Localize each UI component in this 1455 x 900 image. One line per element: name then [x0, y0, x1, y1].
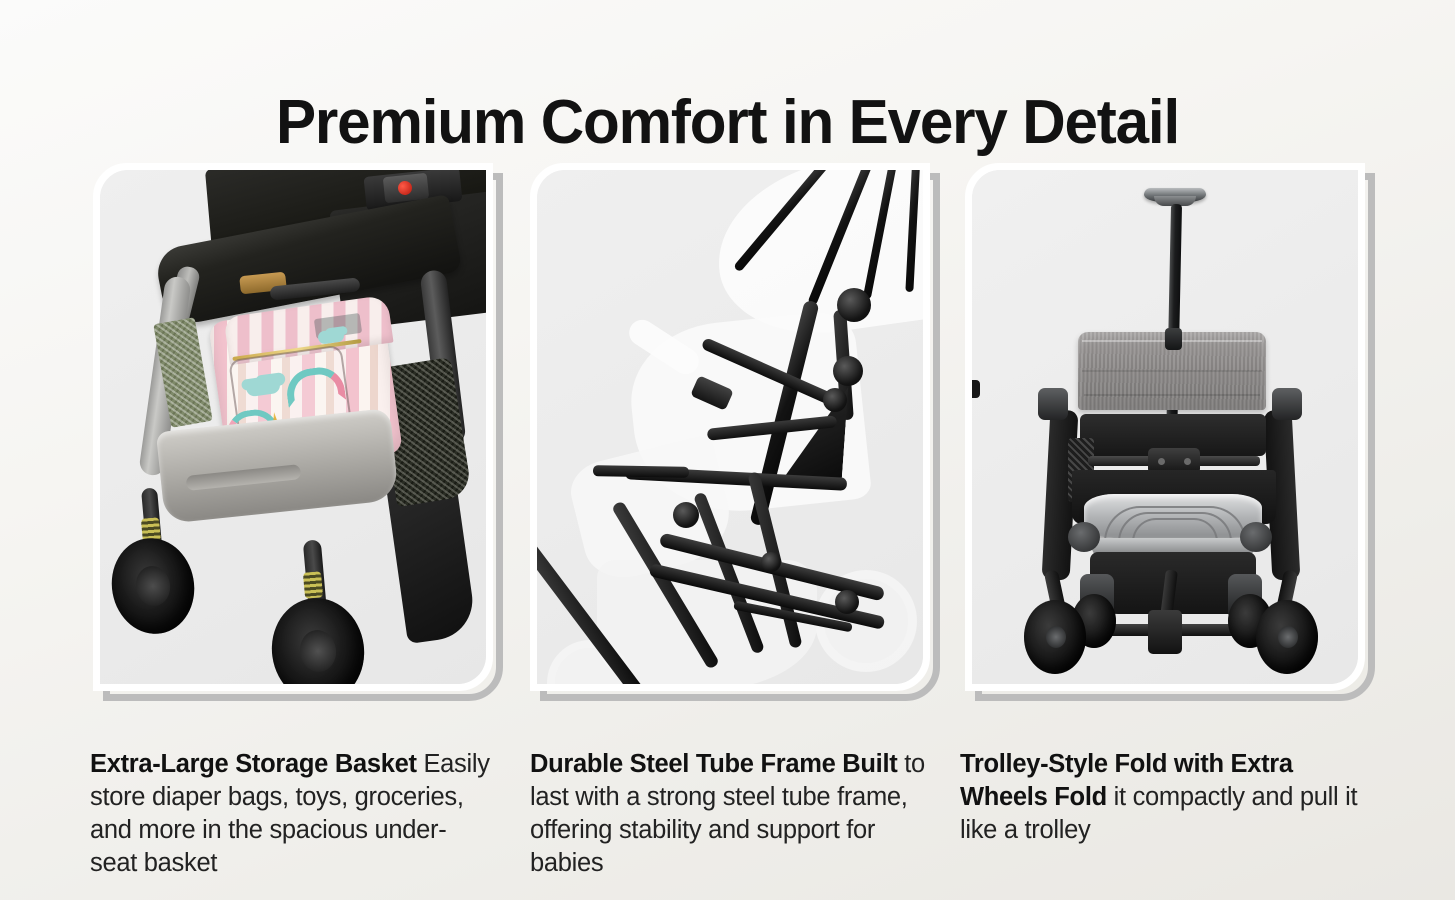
card-white-frame	[93, 163, 493, 691]
caption-heading: Durable Steel Tube Frame Built	[530, 750, 897, 778]
page-title: Premium Comfort in Every Detail	[22, 90, 1433, 155]
feature-card-row	[93, 163, 1365, 691]
feature-banner: Premium Comfort in Every Detail	[0, 0, 1455, 900]
caption-heading: Extra-Large Storage Basket	[90, 750, 417, 778]
feature-card-storage-basket[interactable]	[93, 163, 493, 691]
feature-card-trolley-style-fold[interactable]	[965, 163, 1365, 691]
photo-steel-tube-frame	[537, 170, 923, 684]
card-white-frame	[965, 163, 1365, 691]
feature-caption-row: Extra-Large Storage Basket Easily store …	[0, 722, 1455, 892]
feature-caption-steel-tube-frame: Durable Steel Tube Frame Built to last w…	[530, 748, 940, 880]
feature-card-steel-tube-frame[interactable]	[530, 163, 930, 691]
card-white-frame	[530, 163, 930, 691]
feature-caption-trolley-style-fold: Trolley-Style Fold with Extra Wheels Fol…	[960, 748, 1370, 847]
feature-caption-storage-basket: Extra-Large Storage Basket Easily store …	[90, 748, 490, 880]
photo-trolley-style-fold	[972, 170, 1358, 684]
photo-storage-basket	[100, 170, 486, 684]
